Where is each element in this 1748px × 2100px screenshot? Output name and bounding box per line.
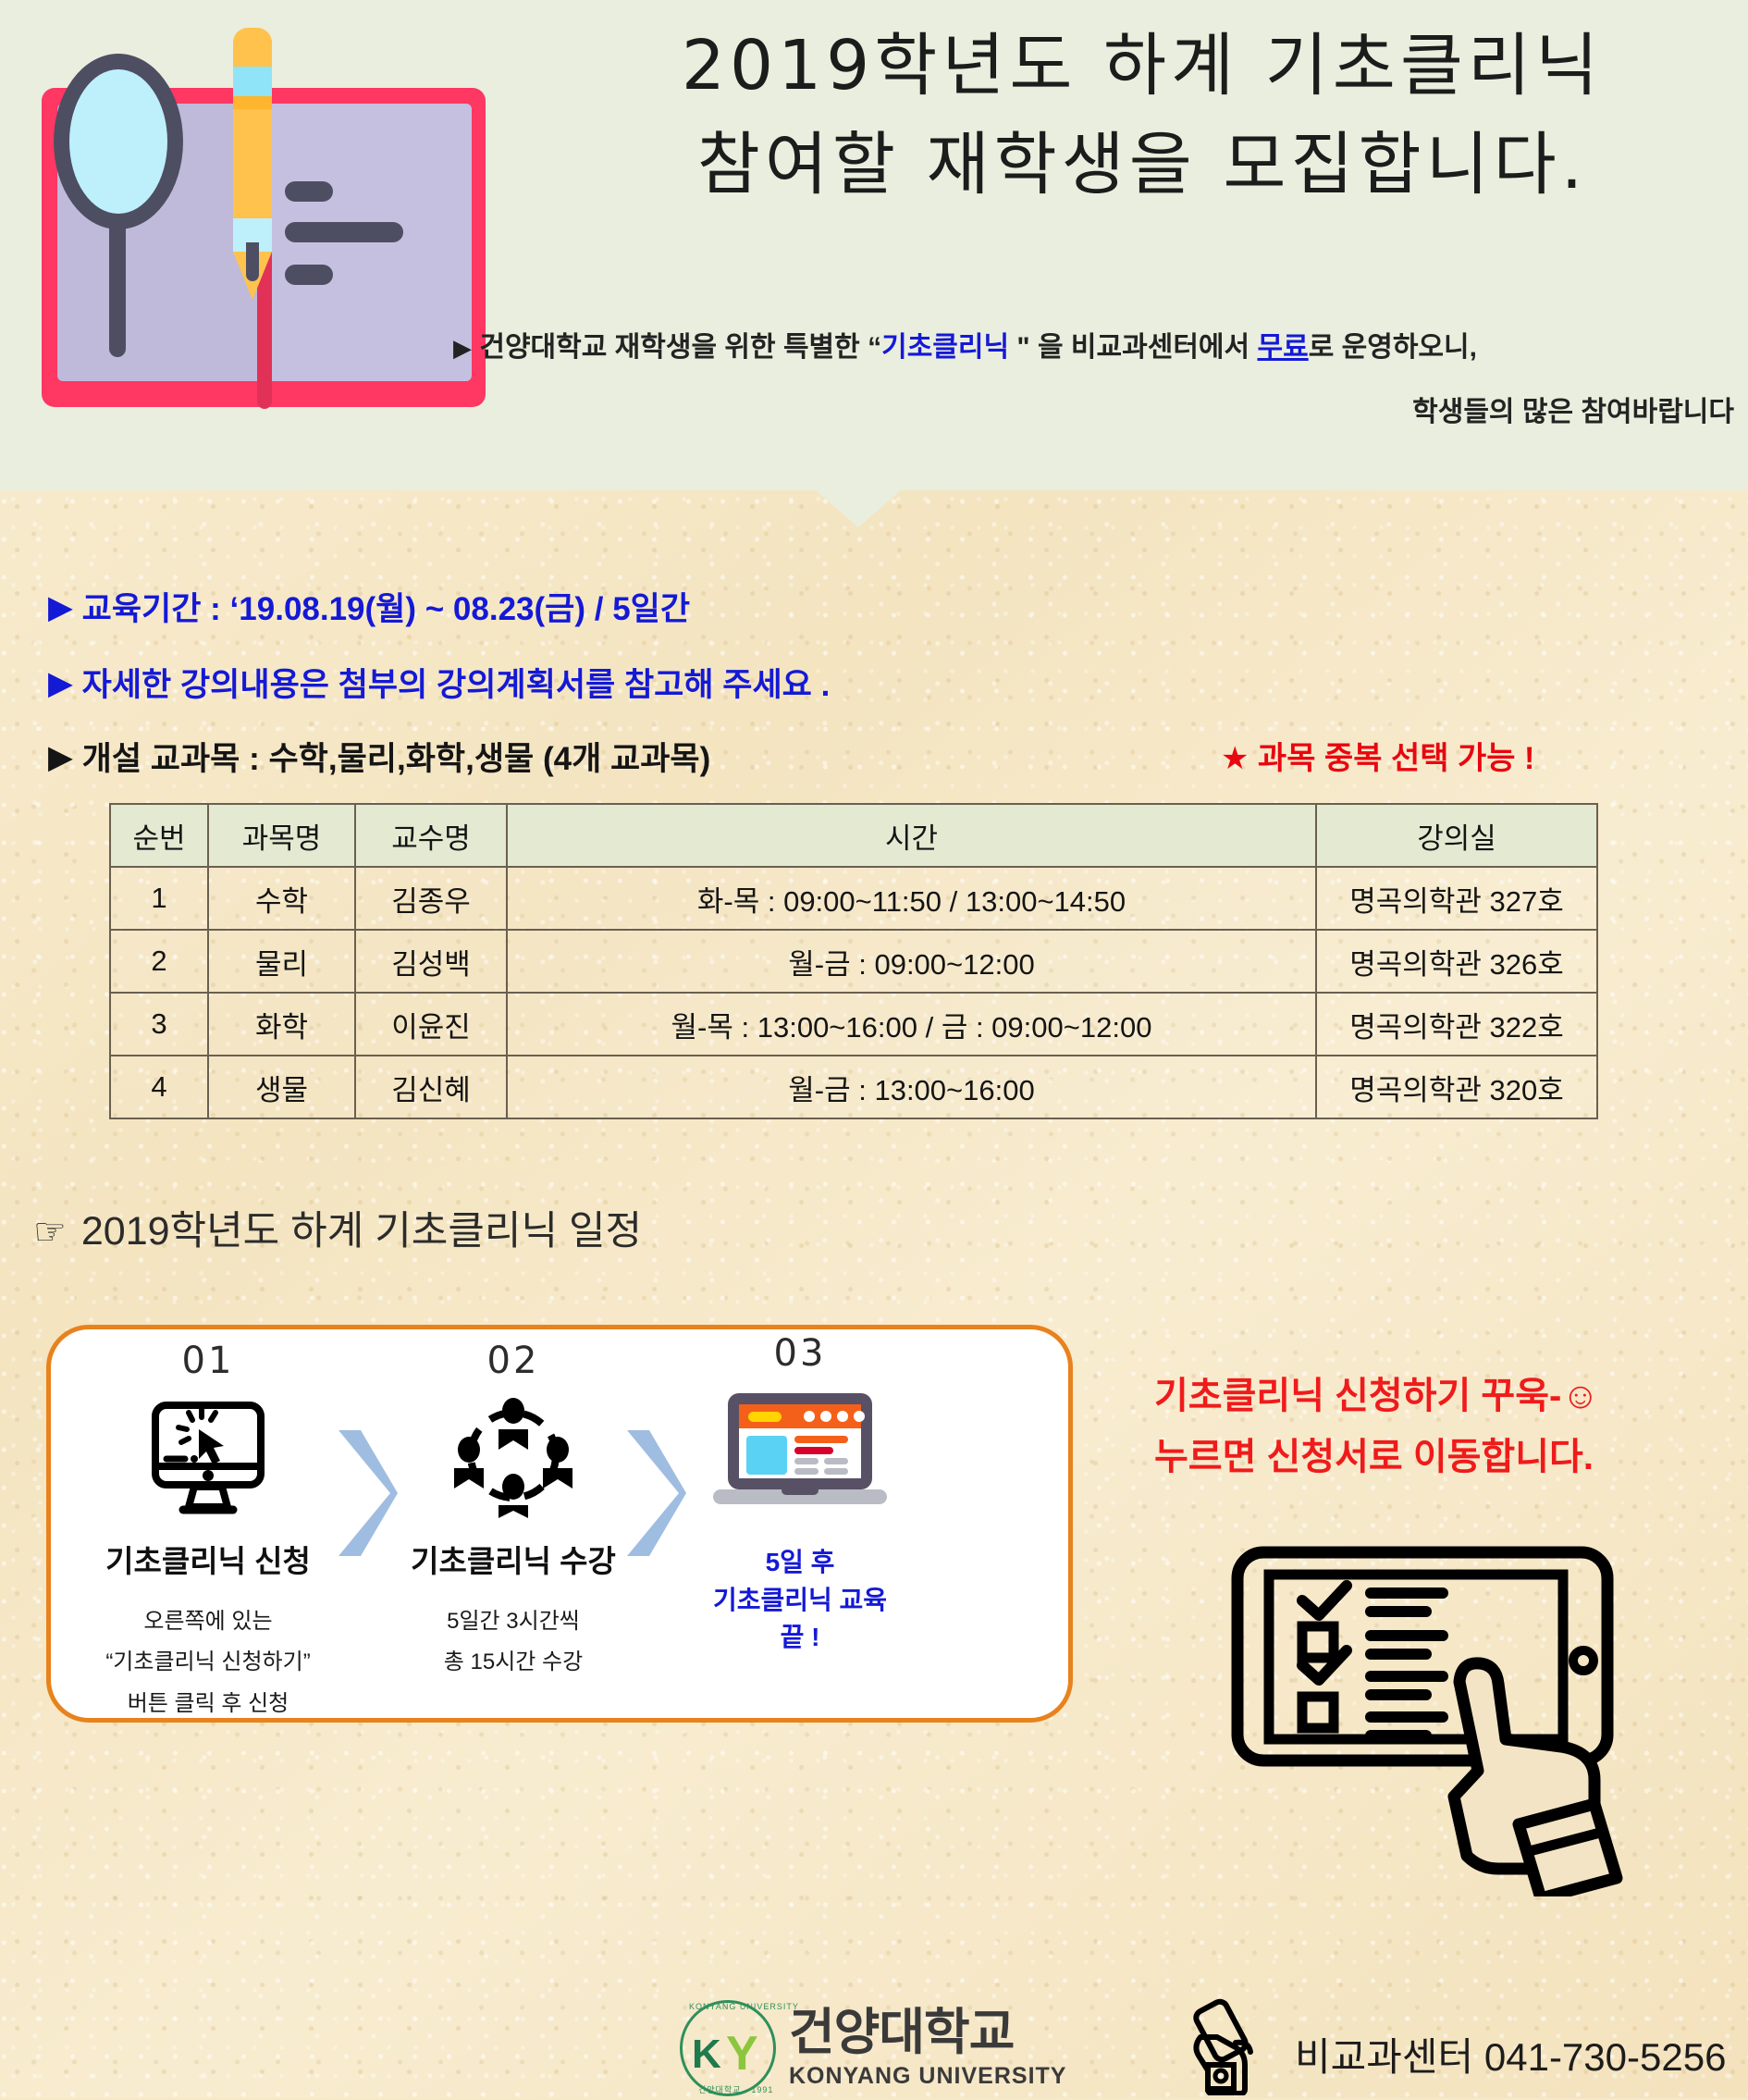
quote-open: “ — [868, 332, 881, 363]
logo-korean-name: 건양대학교 — [789, 2007, 1066, 2057]
apply-call-to-action[interactable]: 기초클리닉 신청하기 꾸욱-☺ 누르면 신청서로 이동합니다. — [1154, 1365, 1746, 1488]
step-title: 기초클리닉 신청 — [55, 1537, 361, 1581]
col-header-time: 시간 — [507, 804, 1316, 867]
cell-professor: 김신혜 — [355, 1056, 507, 1118]
bullet-text: 개설 교과목 : 수학,물리,화학,생물 (4개 교과목) — [82, 741, 711, 777]
triangle-marker-icon: ▶ — [48, 589, 73, 626]
table-row: 1 수학 김종우 화-목 : 09:00~11:50 / 13:00~14:50… — [110, 867, 1597, 930]
bullet-syllabus-note: ▶ 자세한 강의내용은 첨부의 강의계획서를 참고해 주세요 . — [48, 659, 830, 706]
cell-room: 명곡의학관 320호 — [1316, 1056, 1597, 1118]
title-line-1: 2019학년도 하계 기초클리닉 — [555, 17, 1730, 116]
people-network-icon — [361, 1395, 666, 1520]
step-desc-line: 오른쪽에 있는 — [55, 1601, 361, 1642]
cell-number: 3 — [110, 993, 208, 1056]
step-number: 03 — [647, 1332, 953, 1375]
pointing-hand-icon: ☞ — [33, 1212, 67, 1253]
cell-professor: 이윤진 — [355, 993, 507, 1056]
phone-hand-icon — [1184, 1998, 1286, 2100]
desc-text-a: 건양대학교 재학생을 위한 특별한 — [479, 332, 868, 363]
bullet-schedule-period: ▶ 교육기간 : ‘19.08.19(월) ~ 08.23(금) / 5일간 — [48, 583, 690, 630]
step-description: 5일간 3시간씩 총 15시간 수강 — [361, 1601, 666, 1684]
pencil-lead — [246, 242, 259, 281]
cell-time: 화-목 : 09:00~11:50 / 13:00~14:50 — [507, 867, 1316, 930]
step-number: 02 — [361, 1340, 666, 1382]
magnifier-handle — [109, 220, 126, 357]
cell-number: 2 — [110, 930, 208, 993]
course-table: 순번 과목명 교수명 시간 강의실 1 수학 김종우 화-목 : 09:00~1… — [109, 803, 1598, 1119]
step-desc-line: 버튼 클릭 후 신청 — [55, 1684, 361, 1724]
logo-english-name: KONYANG UNIVERSITY — [789, 2063, 1066, 2090]
bullet-subjects: ▶ 개설 교과목 : 수학,물리,화학,생물 (4개 교과목) — [48, 733, 710, 780]
step-desc-line: 5일간 3시간씩 — [361, 1601, 666, 1642]
university-logo: KONYANG UNIVERSITY 건양대학교 · 1991 K Y 건양대학… — [680, 2000, 1066, 2096]
desc-free-highlight: 무료 — [1257, 332, 1308, 363]
duplicate-selection-note: ★ 과목 중복 선택 가능 ! — [1221, 733, 1534, 778]
cell-room: 명곡의학관 322호 — [1316, 993, 1597, 1056]
book-text-line — [285, 222, 403, 242]
step-desc-line: 5일 후 — [647, 1544, 953, 1582]
header-notch — [814, 488, 903, 527]
bullet-text: 자세한 강의내용은 첨부의 강의계획서를 참고해 주세요 . — [82, 667, 831, 703]
bullet-text: 교육기간 : ‘19.08.19(월) ~ 08.23(금) / 5일간 — [82, 591, 690, 627]
triangle-marker-icon: ▶ — [453, 334, 472, 362]
col-header-number: 순번 — [110, 804, 208, 867]
cell-subject: 물리 — [208, 930, 355, 993]
cell-professor: 김성백 — [355, 930, 507, 993]
hand-checklist-icon — [1221, 1526, 1683, 1901]
cell-room: 명곡의학관 327호 — [1316, 867, 1597, 930]
book-page-right — [266, 104, 472, 381]
step-desc-line: “기초클리닉 신청하기” — [55, 1642, 361, 1683]
table-row: 2 물리 김성백 월-금 : 09:00~12:00 명곡의학관 326호 — [110, 930, 1597, 993]
desc-text-b: 을 비교과센터에서 — [1038, 332, 1257, 363]
title-line-2: 참여할 재학생을 모집합니다. — [555, 116, 1730, 215]
poster-title: 2019학년도 하계 기초클리닉 참여할 재학생을 모집합니다. — [555, 17, 1730, 216]
header-description-line-1: ▶ 건양대학교 재학생을 위한 특별한 “기초클리닉 " 을 비교과센터에서 무… — [453, 324, 1748, 364]
step-desc-line: 끝 ! — [647, 1619, 953, 1657]
schedule-heading: ☞2019학년도 하계 기초클리닉 일정 — [33, 1199, 642, 1256]
cell-number: 1 — [110, 867, 208, 930]
logo-wordmark: 건양대학교 KONYANG UNIVERSITY — [789, 2007, 1066, 2090]
pencil-band — [233, 96, 272, 109]
step-description: 5일 후 기초클리닉 교육 끝 ! — [647, 1544, 953, 1657]
step-desc-line: 기초클리닉 교육 — [647, 1582, 953, 1620]
cta-line-1: 기초클리닉 신청하기 꾸욱-☺ — [1154, 1365, 1746, 1427]
cell-subject: 수학 — [208, 867, 355, 930]
book-text-line — [285, 181, 333, 202]
cell-subject: 화학 — [208, 993, 355, 1056]
col-header-subject: 과목명 — [208, 804, 355, 867]
col-header-room: 강의실 — [1316, 804, 1597, 867]
col-header-professor: 교수명 — [355, 804, 507, 867]
cell-professor: 김종우 — [355, 867, 507, 930]
process-step-3: 03 5일 후 기초클리닉 교육 끝 ! — [647, 1332, 953, 1657]
cell-time: 월-목 : 13:00~16:00 / 금 : 09:00~12:00 — [507, 993, 1316, 1056]
cell-time: 월-금 : 09:00~12:00 — [507, 930, 1316, 993]
schedule-heading-text: 2019학년도 하계 기초클리닉 일정 — [81, 1209, 642, 1254]
logo-letter-k: K — [692, 2032, 721, 2078]
monitor-click-icon — [55, 1395, 361, 1520]
contact-phone: 비교과센터 041-730-5256 — [1295, 2026, 1726, 2082]
step-title: 기초클리닉 수강 — [361, 1537, 666, 1581]
header-band: 2019학년도 하계 기초클리닉 참여할 재학생을 모집합니다. ▶ 건양대학교… — [0, 0, 1748, 490]
table-header-row: 순번 과목명 교수명 시간 강의실 — [110, 804, 1597, 867]
cell-time: 월-금 : 13:00~16:00 — [507, 1056, 1316, 1118]
pencil-band — [233, 67, 272, 96]
logo-letter-y: Y — [726, 2026, 758, 2081]
cell-room: 명곡의학관 326호 — [1316, 930, 1597, 993]
process-step-2: 02 기초클리닉 수강 5일간 3시간씩 총 15시간 수강 — [361, 1340, 666, 1684]
pencil-body-lower — [233, 109, 272, 218]
header-description-line-2: 학생들의 많은 참여바랍니다 — [453, 389, 1734, 429]
process-step-1: 01 기초클리닉 신청 오른쪽에 있는 “기초클리닉 신청하기” 버튼 클릭 후… — [55, 1340, 361, 1724]
magnifier-icon — [54, 54, 183, 229]
desc-text-c: 로 운영하오니, — [1309, 332, 1477, 363]
table-row: 3 화학 이윤진 월-목 : 13:00~16:00 / 금 : 09:00~1… — [110, 993, 1597, 1056]
desc-highlight: 기초클리닉 — [881, 332, 1009, 363]
step-desc-line: 총 15시간 수강 — [361, 1642, 666, 1683]
cta-line-2: 누르면 신청서로 이동합니다. — [1154, 1427, 1746, 1488]
logo-mark-icon: KONYANG UNIVERSITY 건양대학교 · 1991 K Y — [680, 2000, 776, 2096]
quote-close: " — [1009, 332, 1038, 363]
cell-subject: 생물 — [208, 1056, 355, 1118]
table-row: 4 생물 김신혜 월-금 : 13:00~16:00 명곡의학관 320호 — [110, 1056, 1597, 1118]
logo-ring-bottom-text: 건양대학교 · 1991 — [698, 2083, 773, 2095]
step-description: 오른쪽에 있는 “기초클리닉 신청하기” 버튼 클릭 후 신청 — [55, 1601, 361, 1724]
book-text-line — [285, 265, 333, 285]
triangle-marker-icon: ▶ — [48, 739, 73, 776]
cell-number: 4 — [110, 1056, 208, 1118]
laptop-icon — [647, 1388, 953, 1513]
logo-ring-top-text: KONYANG UNIVERSITY — [689, 2002, 799, 2011]
step-number: 01 — [55, 1340, 361, 1382]
triangle-marker-icon: ▶ — [48, 665, 73, 702]
